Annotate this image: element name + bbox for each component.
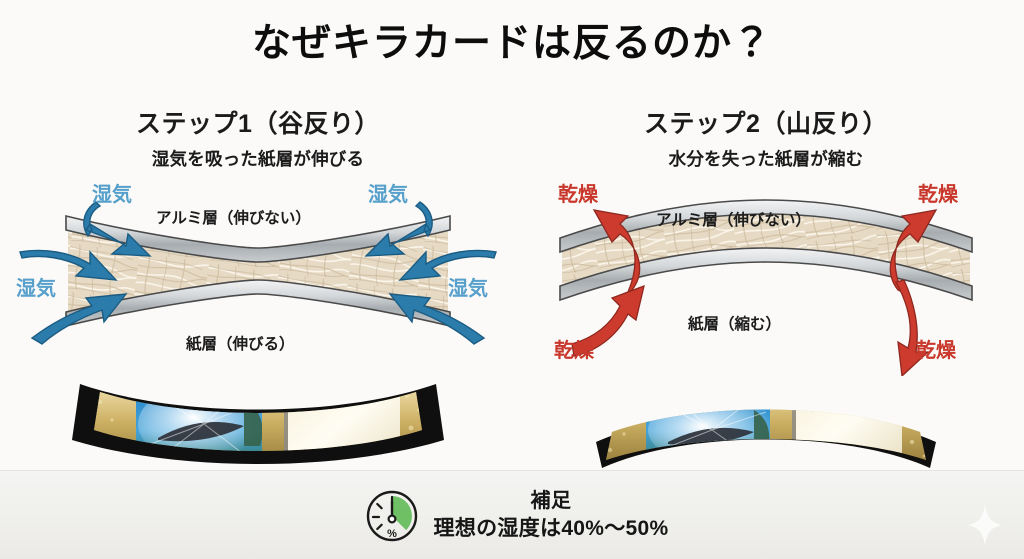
step1-humidity-label-top-right: 湿気 xyxy=(368,178,408,207)
gauge-ticks xyxy=(373,497,392,529)
gauge-unit-label: % xyxy=(387,528,397,540)
step2-top-layer-label: アルミ層（伸びない） xyxy=(656,208,811,230)
step1-subheading: 湿気を吸った紙層が伸びる xyxy=(8,146,508,171)
humidity-gauge-icon: % xyxy=(366,490,418,542)
step1-humidity-label-mid-right: 湿気 xyxy=(448,272,488,301)
step1-bottom-layer-label: 紙層（伸びる） xyxy=(186,332,295,354)
step1-humidity-label-top-left: 湿気 xyxy=(92,178,132,207)
page-title: なぜキラカードは反るのか？ xyxy=(0,22,1024,67)
step2-drying-label-top-left: 乾燥 xyxy=(558,178,598,207)
sparkle-icon xyxy=(968,505,1002,545)
step2-drying-label-bottom-right: 乾燥 xyxy=(916,334,956,363)
step2-panel: ステップ2（山反り） 水分を失った紙層が縮む xyxy=(516,104,1016,464)
step1-cross-section: アルミ層（伸びない） 紙層（伸びる） 湿気 湿気 湿気 湿気 xyxy=(8,186,508,376)
step1-heading: ステップ1（谷反り） xyxy=(8,104,508,140)
step1-humidity-label-mid-left: 湿気 xyxy=(16,272,56,301)
step2-card-photo xyxy=(516,380,1016,472)
step2-card-face xyxy=(602,380,934,472)
step1-card-svg xyxy=(8,380,508,472)
step2-drying-label-top-right: 乾燥 xyxy=(918,178,958,207)
step2-drying-label-bottom-left: 乾燥 xyxy=(554,334,594,363)
step2-heading: ステップ2（山反り） xyxy=(516,104,1016,140)
footer-text-block: 補足 理想の湿度は40%〜50% xyxy=(434,488,669,542)
footer-note-heading: 補足 xyxy=(434,488,669,514)
footer-note-detail: 理想の湿度は40%〜50% xyxy=(434,515,669,543)
step2-bottom-layer-label: 紙層（縮む） xyxy=(688,312,781,334)
gauge-hub xyxy=(388,515,395,522)
step1-panel: ステップ1（谷反り） 湿気を吸った紙層が伸びる xyxy=(8,104,508,464)
step1-top-layer-label: アルミ層（伸びない） xyxy=(156,206,311,228)
step2-subheading: 水分を失った紙層が縮む xyxy=(516,146,1016,171)
footer-note-content: % 補足 理想の湿度は40%〜50% xyxy=(0,471,1024,559)
gauge-green-arc xyxy=(392,496,412,530)
slide-canvas: なぜキラカードは反るのか？ ステップ1（谷反り） 湿気を吸った紙層が伸びる xyxy=(0,0,1024,559)
step2-card-svg xyxy=(516,380,1016,472)
footer-note-bar: % 補足 理想の湿度は40%〜50% xyxy=(0,470,1024,559)
step2-cross-section: アルミ層（伸びない） 紙層（縮む） 乾燥 乾燥 乾燥 乾燥 xyxy=(516,186,1016,376)
step1-card-photo xyxy=(8,380,508,472)
